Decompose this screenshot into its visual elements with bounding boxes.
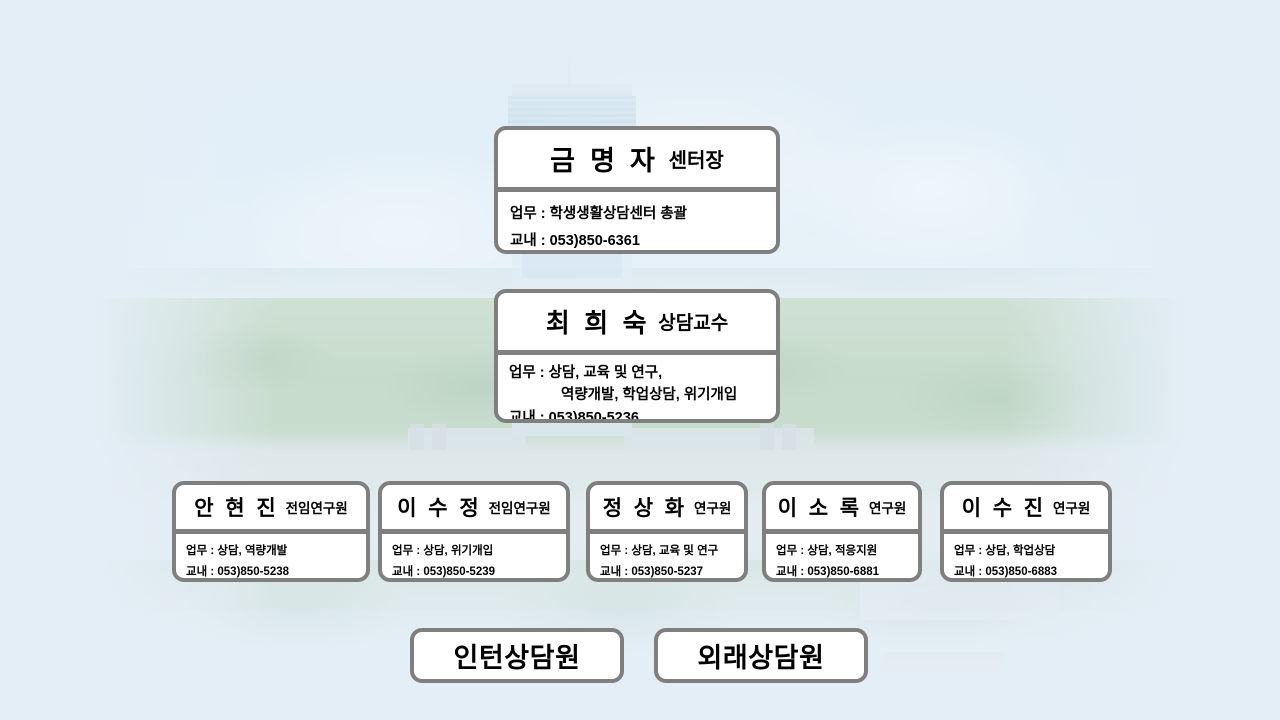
org-node-professor-duty-row: 업무 : 상담, 교육 및 연구,	[509, 362, 776, 384]
org-node-professor-details: 업무 : 상담, 교육 및 연구, 역량개발, 학업상담, 위기개입 교내 : …	[498, 355, 776, 423]
org-node-researcher-4-title: 이 소 록 연구원	[766, 485, 918, 529]
duty-value: 상담, 교육 및 연구	[631, 545, 718, 557]
org-node-researcher-4-rank: 연구원	[869, 497, 906, 517]
duty-label: 업무 :	[186, 545, 217, 557]
phone-value: 053)850-6881	[807, 566, 879, 578]
org-node-researcher-3-rank: 연구원	[694, 497, 731, 517]
org-node-professor-rank: 상담교수	[658, 308, 728, 335]
duty-value: 학생생활상담센터 총괄	[550, 206, 687, 222]
org-node-researcher-1-name: 안 현 진	[194, 492, 278, 522]
org-node-professor-title: 최 희 숙 상담교수	[498, 293, 776, 350]
org-node-researcher-2-title: 이 수 정 전임연구원	[382, 485, 566, 529]
duty-row: 업무 : 상담, 학업상담	[954, 541, 1108, 562]
phone-label: 교내 :	[600, 566, 631, 578]
org-node-researcher-4-name: 이 소 록	[778, 492, 862, 522]
org-node-head-details: 업무 : 학생생활상담센터 총괄 교내 : 053)850-6361	[498, 192, 776, 254]
phone-row: 교내 : 053)850-5237	[600, 562, 744, 582]
phone-value: 053)850-5239	[423, 566, 495, 578]
org-node-researcher-1[interactable]: 안 현 진 전임연구원 업무 : 상담, 역량개발 교내 : 053)850-5…	[172, 481, 370, 582]
phone-value: 053)850-5238	[217, 566, 289, 578]
org-node-researcher-5-title: 이 수 진 연구원	[944, 485, 1108, 529]
org-node-external-counselor-label: 외래상담원	[698, 636, 825, 675]
org-node-head-title: 금 명 자 센터장	[498, 130, 776, 187]
org-node-intern-counselor-label: 인턴상담원	[454, 636, 581, 675]
org-node-researcher-4[interactable]: 이 소 록 연구원 업무 : 상담, 적응지원 교내 : 053)850-688…	[762, 481, 922, 582]
org-node-head-phone-row: 교내 : 053)850-6361	[510, 228, 776, 254]
org-node-researcher-2[interactable]: 이 수 정 전임연구원 업무 : 상담, 위기개입 교내 : 053)850-5…	[378, 481, 570, 582]
org-node-researcher-2-name: 이 수 정	[397, 492, 481, 522]
org-chart-slide: 금 명 자 센터장 업무 : 학생생활상담센터 총괄 교내 : 053)850-…	[0, 0, 1280, 720]
duty-value: 상담, 교육 및 연구,	[549, 365, 663, 381]
org-node-researcher-3-name: 정 상 화	[603, 492, 687, 522]
phone-row: 교내 : 053)850-6881	[776, 562, 918, 582]
org-node-researcher-5[interactable]: 이 수 진 연구원 업무 : 상담, 학업상담 교내 : 053)850-688…	[940, 481, 1112, 582]
org-node-researcher-3-details: 업무 : 상담, 교육 및 연구 교내 : 053)850-5237	[590, 534, 744, 582]
org-node-external-counselor[interactable]: 외래상담원	[654, 628, 868, 683]
phone-row: 교내 : 053)850-6883	[954, 562, 1108, 582]
phone-label: 교내 :	[954, 566, 985, 578]
org-node-professor-name: 최 희 숙	[546, 303, 650, 340]
phone-row: 교내 : 053)850-5238	[186, 562, 366, 582]
duty-row: 업무 : 상담, 위기개입	[392, 541, 566, 562]
org-node-head[interactable]: 금 명 자 센터장 업무 : 학생생활상담센터 총괄 교내 : 053)850-…	[494, 126, 780, 254]
org-node-researcher-3-title: 정 상 화 연구원	[590, 485, 744, 529]
phone-value: 053)850-6883	[985, 566, 1057, 578]
duty-label: 업무 :	[600, 545, 631, 557]
phone-value: 053)850-5237	[631, 566, 703, 578]
phone-label: 교내 :	[186, 566, 217, 578]
phone-label: 교내 :	[510, 233, 550, 249]
duty-row: 업무 : 상담, 역량개발	[186, 541, 366, 562]
org-node-researcher-5-rank: 연구원	[1053, 497, 1090, 517]
phone-row: 교내 : 053)850-5239	[392, 562, 566, 582]
duty-label: 업무 :	[392, 545, 423, 557]
phone-value: 053)850-6361	[550, 233, 640, 249]
duty-value: 상담, 학업상담	[985, 545, 1055, 557]
org-node-researcher-2-rank: 전임연구원	[489, 497, 551, 517]
org-node-head-rank: 센터장	[669, 144, 724, 173]
org-node-researcher-4-details: 업무 : 상담, 적응지원 교내 : 053)850-6881	[766, 534, 918, 582]
duty-row: 업무 : 상담, 적응지원	[776, 541, 918, 562]
duty-value: 상담, 역량개발	[217, 545, 287, 557]
org-node-professor-duty-row-2: 역량개발, 학업상담, 위기개입	[509, 384, 776, 406]
org-node-researcher-1-rank: 전임연구원	[286, 497, 348, 517]
duty-row: 업무 : 상담, 교육 및 연구	[600, 541, 744, 562]
org-node-head-name: 금 명 자	[550, 139, 658, 178]
org-node-researcher-1-title: 안 현 진 전임연구원	[176, 485, 366, 529]
org-node-intern-counselor[interactable]: 인턴상담원	[410, 628, 624, 683]
org-node-researcher-5-details: 업무 : 상담, 학업상담 교내 : 053)850-6883	[944, 534, 1108, 582]
org-node-professor[interactable]: 최 희 숙 상담교수 업무 : 상담, 교육 및 연구, 역량개발, 학업상담,…	[494, 289, 780, 423]
org-node-researcher-5-name: 이 수 진	[962, 492, 1046, 522]
duty-label: 업무 :	[954, 545, 985, 557]
duty-value: 상담, 적응지원	[807, 545, 877, 557]
org-node-researcher-1-details: 업무 : 상담, 역량개발 교내 : 053)850-5238	[176, 534, 366, 582]
duty-label: 업무 :	[776, 545, 807, 557]
phone-label: 교내 :	[509, 410, 549, 423]
org-node-head-duty-row: 업무 : 학생생활상담센터 총괄	[510, 201, 776, 228]
org-node-professor-phone-row: 교내 : 053)850-5236	[509, 407, 776, 423]
phone-label: 교내 :	[392, 566, 423, 578]
phone-value: 053)850-5236	[549, 410, 639, 423]
duty-label: 업무 :	[509, 365, 549, 381]
phone-label: 교내 :	[776, 566, 807, 578]
org-node-researcher-2-details: 업무 : 상담, 위기개입 교내 : 053)850-5239	[382, 534, 566, 582]
duty-value: 상담, 위기개입	[423, 545, 493, 557]
duty-label: 업무 :	[510, 206, 550, 222]
org-node-researcher-3[interactable]: 정 상 화 연구원 업무 : 상담, 교육 및 연구 교내 : 053)850-…	[586, 481, 748, 582]
